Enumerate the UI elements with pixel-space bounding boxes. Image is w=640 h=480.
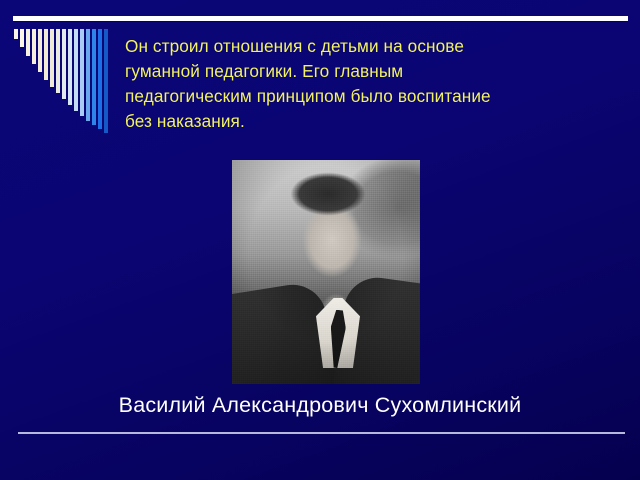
portrait-caption: Василий Александрович Сухомлинский xyxy=(0,392,640,418)
portrait-photo xyxy=(232,160,420,384)
decorative-bar xyxy=(104,29,108,133)
body-line: гуманной педагогики. Его главным xyxy=(125,59,597,84)
top-horizontal-rule xyxy=(13,16,628,21)
decorative-bar xyxy=(44,29,48,80)
body-line: педагогическим принципом было воспитание xyxy=(125,84,597,109)
photo-vignette xyxy=(232,160,420,384)
decorative-stair-bars xyxy=(14,29,114,134)
decorative-bar xyxy=(50,29,54,87)
decorative-bar xyxy=(26,29,30,56)
decorative-bar xyxy=(68,29,72,105)
decorative-bar xyxy=(98,29,102,129)
presentation-slide: Он строил отношения с детьми на основе г… xyxy=(0,0,640,480)
decorative-bar xyxy=(74,29,78,111)
body-paragraph: Он строил отношения с детьми на основе г… xyxy=(125,34,597,134)
portrait-photo-image xyxy=(232,160,420,384)
body-line: Он строил отношения с детьми на основе xyxy=(125,34,597,59)
decorative-bar xyxy=(20,29,24,47)
decorative-bar xyxy=(32,29,36,64)
decorative-bar xyxy=(92,29,96,125)
body-line: без наказания. xyxy=(125,109,597,134)
decorative-bar xyxy=(80,29,84,116)
decorative-bar xyxy=(38,29,42,72)
bottom-divider-line xyxy=(18,432,625,434)
decorative-bar xyxy=(62,29,66,99)
decorative-bar xyxy=(86,29,90,121)
decorative-bar xyxy=(56,29,60,93)
decorative-bar xyxy=(14,29,18,39)
